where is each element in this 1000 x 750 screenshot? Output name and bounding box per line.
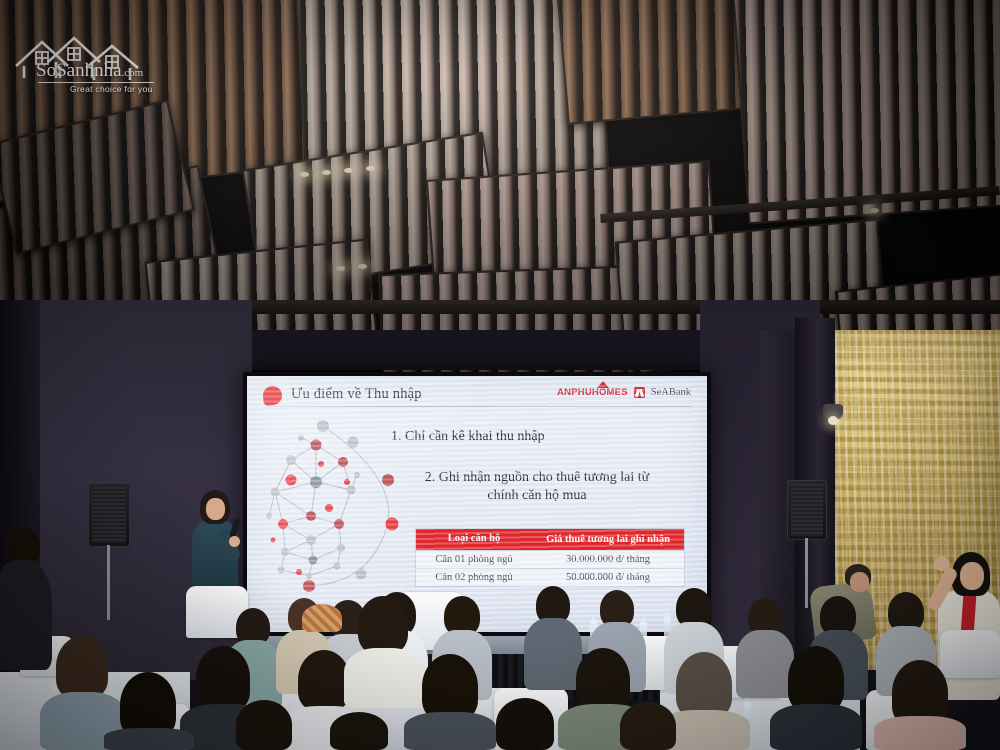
speaker-stand-left (107, 545, 110, 620)
watermark-logo: SoSanhnha.com Great choice for you (8, 22, 158, 92)
seabank-badge-icon (634, 387, 645, 398)
watermark-brand: SoSanhnha.com (36, 60, 143, 82)
watermark-tld: .com (122, 67, 144, 79)
presentation-screen[interactable]: Ưu điểm về Thu nhập ANPHUHOMES SeABank (247, 376, 707, 632)
staff-hand (934, 556, 949, 571)
wall-behind-screen (252, 330, 712, 370)
chair (940, 630, 1000, 678)
slide-header-divider (267, 406, 691, 407)
slide-header: Ưu điểm về Thu nhập ANPHUHOMES SeABank (263, 385, 695, 411)
pendant-lamp-bulb-icon (828, 416, 838, 425)
table-cell-type: Căn 01 phòng ngủ (416, 551, 532, 568)
loudspeaker-right (787, 480, 827, 540)
anphuhomes-logo: ANPHUHOMES (557, 387, 628, 398)
staff-face (960, 562, 984, 590)
anphuhomes-logo-label: ANPHUHOMES (557, 387, 628, 398)
table-header-row: Loại căn hộ Giá thuê tương lai ghi nhận (416, 529, 684, 550)
table-cell-price: 30.000.000 đ/ tháng (532, 551, 684, 568)
slide-bullet-2: 2. Ghi nhận nguồn cho thuê tương lai từ … (417, 469, 657, 505)
table-cell-price: 50.000.000 đ/ tháng (532, 569, 684, 586)
rental-price-table: Loại căn hộ Giá thuê tương lai ghi nhận … (415, 528, 685, 587)
speaker-stand-right (805, 538, 808, 608)
staff-bending-face (850, 572, 869, 592)
seabank-logo-label: SeABank (651, 387, 691, 398)
table-row: Căn 01 phòng ngủ 30.000.000 đ/ tháng (416, 550, 684, 568)
table-cell-type: Căn 02 phòng ngủ (416, 569, 532, 586)
table-header-cell-type: Loại căn hộ (416, 529, 532, 550)
red-droplet-icon (262, 385, 283, 406)
loudspeaker-left (88, 483, 130, 547)
presenter-face (206, 498, 225, 520)
slide-title: Ưu điểm về Thu nhập (291, 386, 422, 403)
table-header-cell-price: Giá thuê tương lai ghi nhận (532, 529, 684, 550)
node-arc-decoration (261, 416, 411, 606)
screenshot-root: Ưu điểm về Thu nhập ANPHUHOMES SeABank (0, 0, 1000, 750)
presenter-hand (229, 536, 240, 547)
watermark-divider (38, 82, 154, 83)
slide-bullet-1: 1. Chỉ cần kê khai thu nhập (391, 428, 545, 446)
watermark-tagline: Great choice for you (70, 84, 153, 94)
roof-peak-icon (597, 381, 609, 388)
table-row: Căn 02 phòng ngủ 50.000.000 đ/ tháng (416, 568, 684, 586)
slide-bullet-2-line1: 2. Ghi nhận nguồn cho thuê tương (425, 470, 617, 485)
slide-logos: ANPHUHOMES SeABank (557, 387, 691, 398)
